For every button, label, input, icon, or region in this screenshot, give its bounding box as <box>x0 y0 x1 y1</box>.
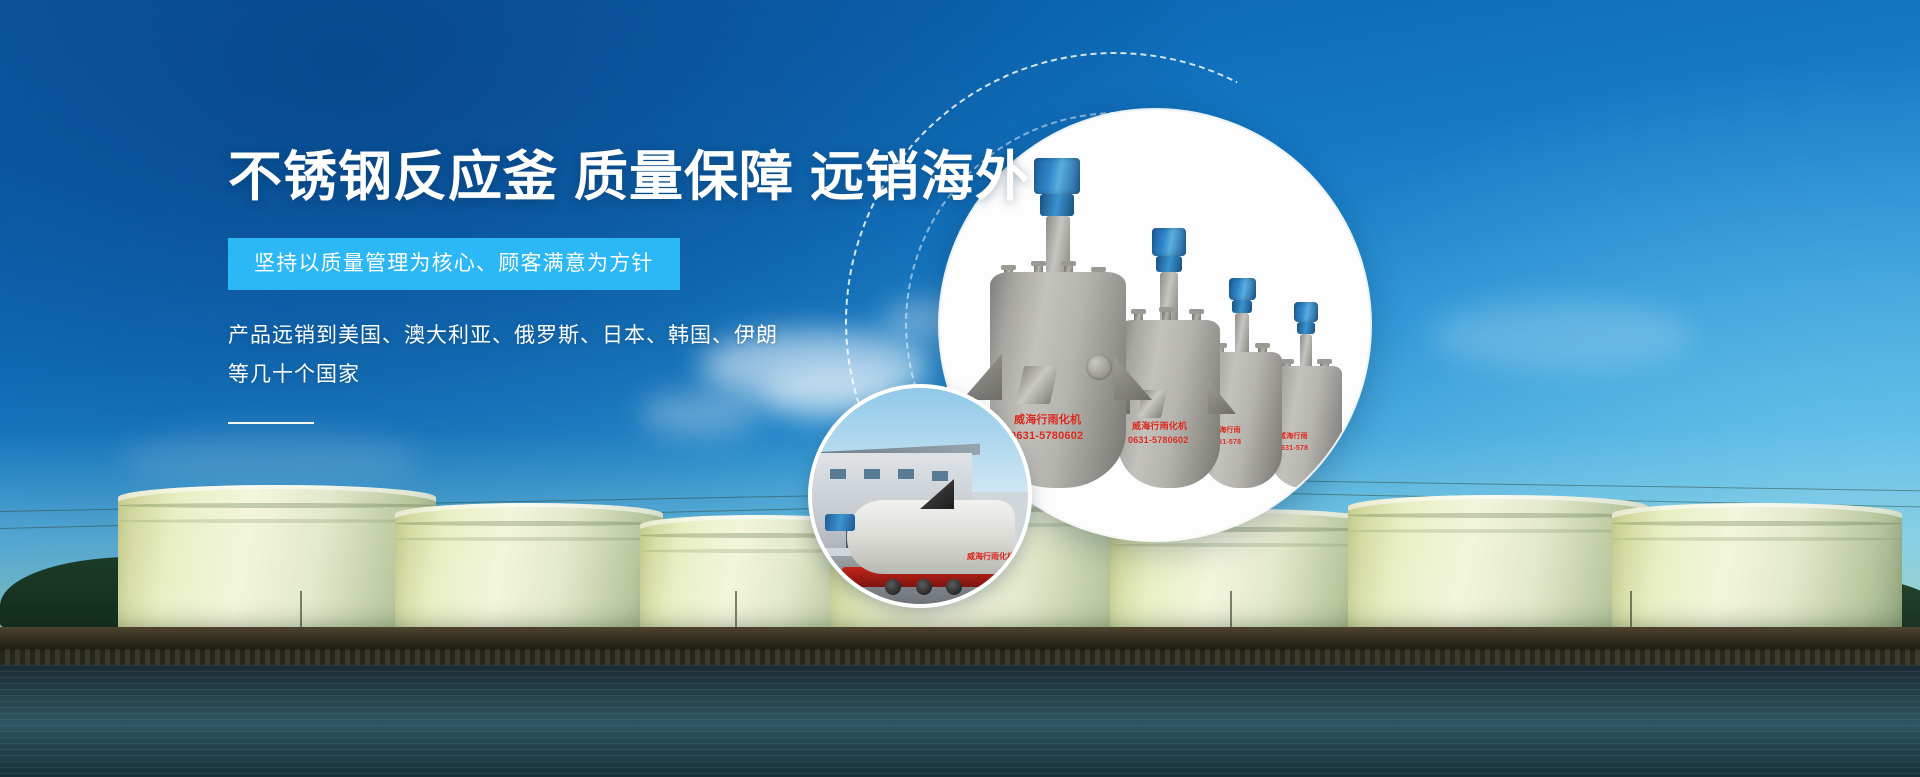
agitator-shaft <box>1235 313 1249 355</box>
storage-tank <box>118 485 436 631</box>
reactor-vessel: 威海行雨化机 0631-5780602 <box>1118 226 1220 488</box>
storage-tank <box>1348 495 1648 631</box>
motor-icon <box>825 514 855 531</box>
vessel-body <box>1118 320 1220 488</box>
vessel-label-company: 威海行雨化机 <box>967 552 1015 561</box>
waterfront <box>0 665 1920 777</box>
window <box>830 469 846 479</box>
agitator-shaft <box>1300 334 1312 370</box>
window <box>898 469 914 479</box>
gearbox <box>1297 322 1315 334</box>
sea-wall <box>0 627 1920 651</box>
lamp-post <box>1230 591 1232 627</box>
vessel-label-phone: 0631-5780602 <box>1128 435 1188 446</box>
motor-icon <box>1294 302 1318 322</box>
vessel-label-company: 威海行雨化机 <box>1132 421 1187 432</box>
decorative-rule <box>228 422 314 424</box>
gearbox <box>1040 194 1074 216</box>
motor-icon <box>1034 158 1080 194</box>
lamp-post <box>1630 591 1632 627</box>
storage-tank <box>1612 503 1902 631</box>
vessel-manway-port <box>1086 354 1112 380</box>
lamp-post <box>735 591 737 627</box>
lamp-post <box>300 591 302 627</box>
wheel <box>916 579 932 595</box>
window <box>864 469 880 479</box>
body-line-2: 等几十个国家 <box>228 355 988 394</box>
window <box>932 471 948 481</box>
cloud-decoration <box>1430 300 1690 370</box>
gearbox <box>1232 300 1252 313</box>
vessel-label-company: 威海行雨 <box>1279 431 1308 442</box>
body-line-1: 产品远销到美国、澳大利亚、俄罗斯、日本、韩国、伊朗 <box>228 316 988 355</box>
subtitle-badge: 坚持以质量管理为核心、顾客满意为方针 <box>228 238 680 290</box>
page-title: 不锈钢反应釜 质量保障 远销海外 <box>228 150 988 204</box>
motor-icon <box>1229 278 1256 300</box>
quay-edge <box>0 649 1920 665</box>
storage-tank <box>395 503 663 631</box>
motor-icon <box>1152 228 1186 256</box>
body-copy: 产品远销到美国、澳大利亚、俄罗斯、日本、韩国、伊朗 等几十个国家 <box>228 316 988 394</box>
hero-banner: 威海行雨 0631-578 威海行雨 0631-578 <box>0 0 1920 777</box>
transported-vessel <box>847 500 1015 573</box>
hero-copy-block: 不锈钢反应釜 质量保障 远销海外 坚持以质量管理为核心、顾客满意为方针 产品远销… <box>228 150 988 424</box>
gearbox <box>1156 256 1182 272</box>
